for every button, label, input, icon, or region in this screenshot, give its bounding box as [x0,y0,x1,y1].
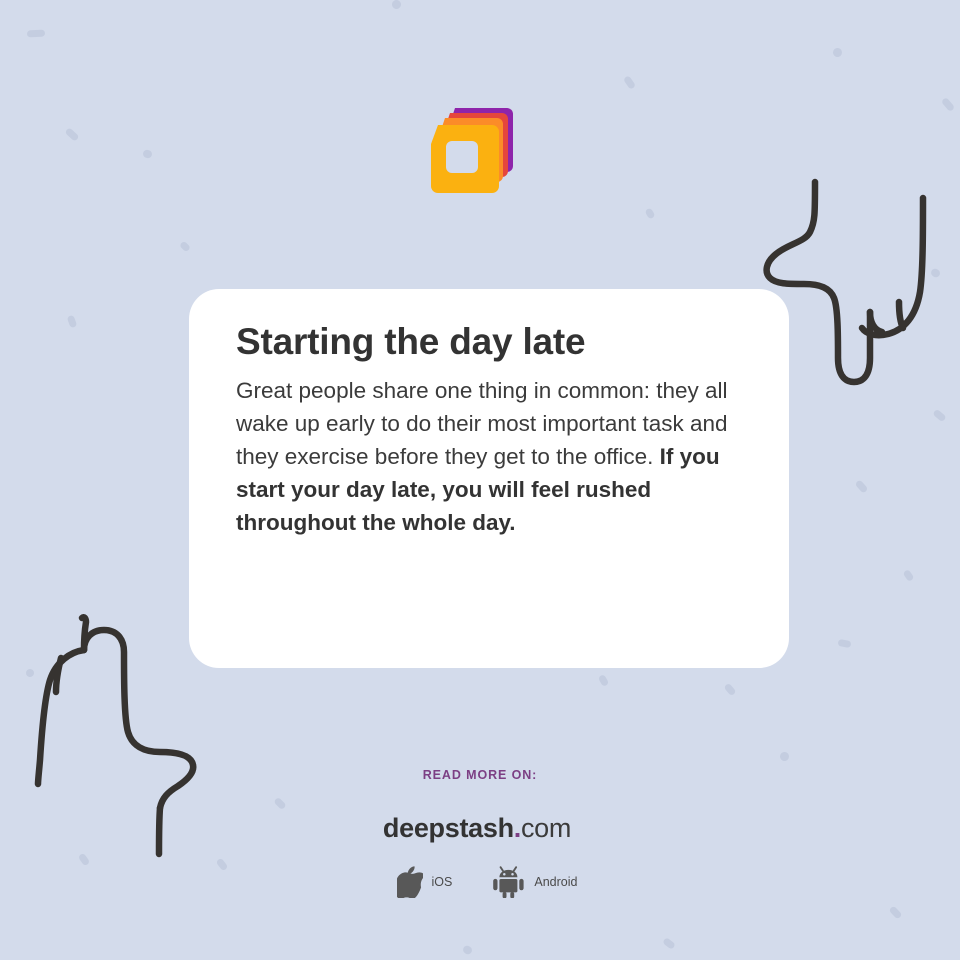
speckle-dash [64,127,79,142]
app-store-badges: iOS [7,866,960,898]
android-icon [492,866,525,898]
speckle-dash [644,207,655,219]
speckle-dash [932,409,946,423]
ios-label: iOS [432,875,453,889]
brand-wordmark[interactable]: deepstash.com [0,813,957,844]
speckle-dash [27,30,45,38]
brand-name: deepstash [383,813,514,843]
speckle-dash [723,683,736,697]
speckle-dash [662,937,676,950]
brand-dot: . [514,813,521,843]
read-more-label: READ MORE ON: [0,768,960,782]
page-title: Starting the day late [236,321,743,364]
speckle-dash [142,149,153,160]
card-body-text: Great people share one thing in common: … [236,374,743,539]
ios-store-badge[interactable]: iOS [397,866,453,898]
speckle-dash [832,47,844,59]
speckle-dash [391,0,402,10]
hand-pointing-up-icon [18,558,214,788]
logo-inner-cutout [446,141,478,173]
speckle-dash [888,905,902,919]
apple-icon [397,866,423,898]
speckle-dash [902,569,914,582]
poster-canvas: Starting the day late Great people share… [0,0,960,960]
speckle-dash [462,944,474,955]
speckle-dash [941,97,955,112]
speckle-dash [623,75,636,90]
footer: READ MORE ON: deepstash.com iOS [0,768,960,898]
card-body-lead: Great people share one thing in common: … [236,378,728,469]
speckle-dash [179,240,191,252]
speckle-dash [779,751,791,763]
speckle-dash [598,674,610,687]
speckle-dash [837,639,851,648]
speckle-dash [855,479,869,493]
android-store-badge[interactable]: Android [492,866,577,898]
content-card: Starting the day late Great people share… [189,289,789,668]
android-label: Android [534,875,577,889]
speckle-dash [67,315,78,329]
deepstash-logo [425,100,525,200]
brand-tld: com [521,813,571,843]
